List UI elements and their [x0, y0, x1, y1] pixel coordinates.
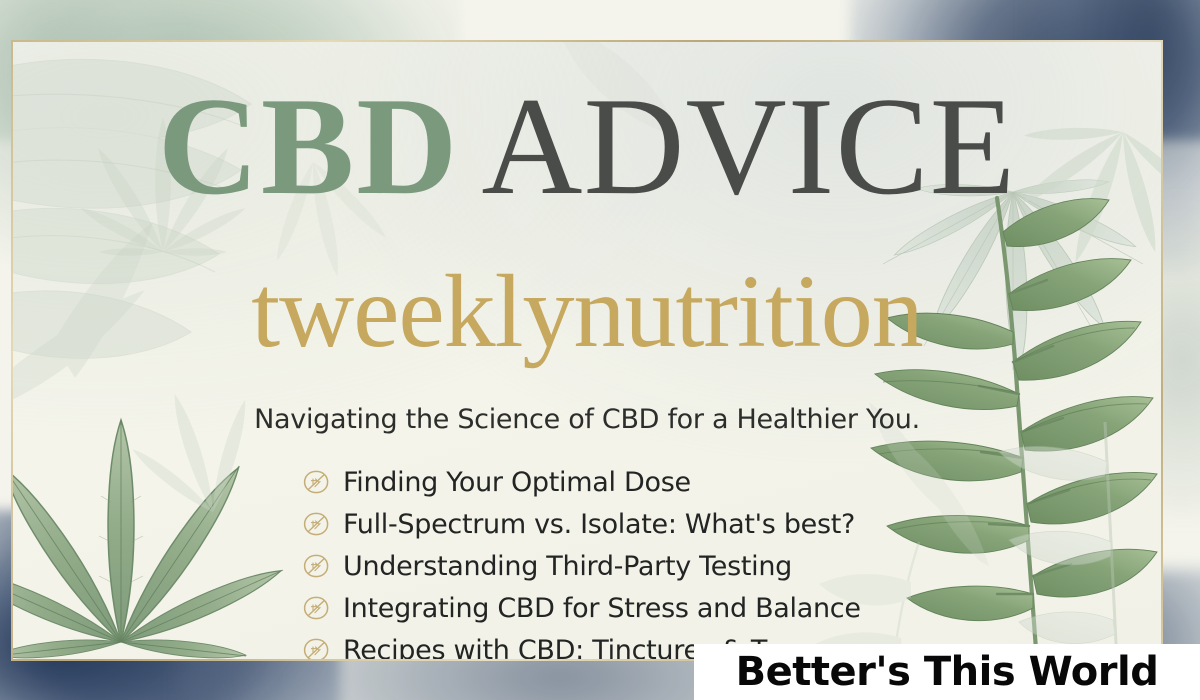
poster-content: CBDADVICE tweeklynutrition Navigating th… — [13, 42, 1161, 659]
brand-name: tweeklynutrition — [13, 260, 1161, 364]
title-cbd: CBD — [158, 69, 460, 224]
gold-frame-border: CBDADVICE tweeklynutrition Navigating th… — [11, 40, 1163, 661]
list-item: Integrating CBD for Stress and Balance — [302, 587, 861, 629]
watermark-text: Better's This World — [736, 649, 1159, 695]
topic-list: Finding Your Optimal Dose Full-Spectrum … — [302, 461, 861, 661]
list-item-label: Understanding Third-Party Testing — [343, 551, 792, 582]
watermark-logo: Better's This World — [694, 644, 1200, 700]
leaf-icon — [302, 553, 330, 579]
leaf-icon — [302, 595, 330, 621]
page-title: CBDADVICE — [13, 77, 1161, 217]
list-item-label: Full-Spectrum vs. Isolate: What's best? — [343, 509, 855, 540]
list-item: Finding Your Optimal Dose — [302, 461, 861, 503]
list-item: Full-Spectrum vs. Isolate: What's best? — [302, 503, 861, 545]
leaf-icon — [302, 469, 330, 495]
list-item-label: Integrating CBD for Stress and Balance — [343, 593, 861, 624]
leaf-icon — [302, 637, 330, 661]
title-advice: ADVICE — [481, 69, 1016, 224]
list-item-label: Finding Your Optimal Dose — [343, 467, 691, 498]
poster-canvas: CBDADVICE tweeklynutrition Navigating th… — [0, 0, 1200, 700]
leaf-icon — [302, 511, 330, 537]
tagline: Navigating the Science of CBD for a Heal… — [13, 404, 1161, 435]
list-item: Understanding Third-Party Testing — [302, 545, 861, 587]
